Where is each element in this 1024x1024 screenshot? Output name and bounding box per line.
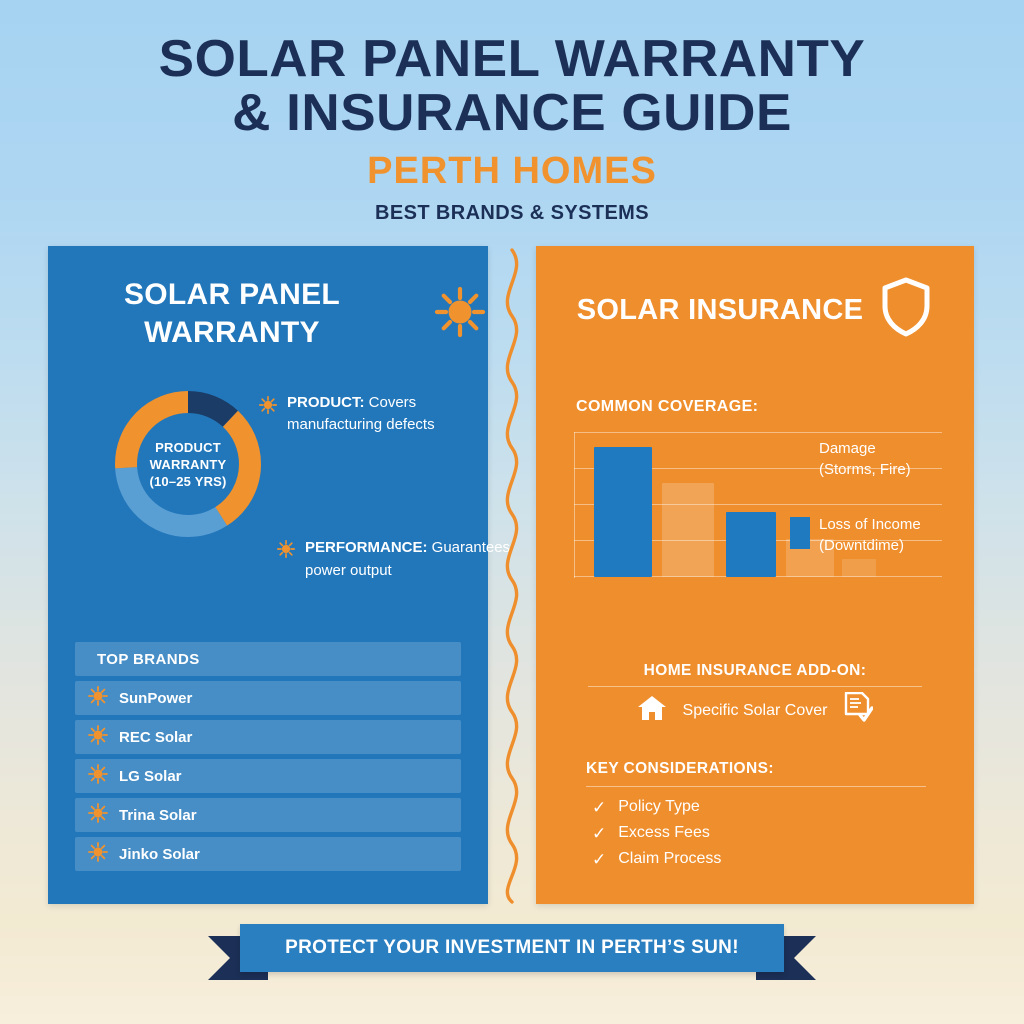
- brand-label: LG Solar: [119, 768, 182, 785]
- warranty-donut-chart: PRODUCT WARRANTY (10–25 YRS): [108, 384, 268, 544]
- addon-label: Specific Solar Cover: [683, 702, 828, 720]
- title-line-2: & INSURANCE GUIDE: [0, 86, 1024, 140]
- insurance-panel-title: SOLAR INSURANCE: [577, 291, 863, 329]
- bar-5: [842, 559, 876, 577]
- key-considerations-list: ✓ Policy Type ✓ Excess Fees ✓ Claim Proc…: [592, 794, 932, 872]
- page-title: SOLAR PANEL WARRANTY & INSURANCE GUIDE: [0, 32, 1024, 140]
- donut-label-line-2: WARRANTY: [150, 456, 227, 473]
- bar-2: [662, 483, 714, 577]
- coverage-bar-chart: Damage (Storms, Fire) Loss of Income (Do…: [574, 432, 942, 578]
- home-icon: [637, 694, 667, 727]
- legend-label-loss-of-income: Loss of Income (Downtdime): [819, 514, 921, 556]
- legend-damage-line-2: (Storms, Fire): [819, 459, 911, 480]
- bullet-row: PRODUCT: Covers manufacturing defects: [258, 392, 488, 436]
- chart-legend: Damage (Storms, Fire) Loss of Income (Do…: [790, 438, 950, 556]
- legend-swatch-damage: [790, 441, 810, 473]
- legend-item-damage: Damage (Storms, Fire): [790, 438, 950, 480]
- legend-loss-line-1: Loss of Income: [819, 514, 921, 535]
- brand-row-sunpower[interactable]: SunPower: [75, 681, 461, 715]
- sun-icon: [87, 685, 109, 711]
- check-icon: ✓: [592, 851, 606, 868]
- legend-damage-line-1: Damage: [819, 438, 911, 459]
- wavy-divider: [488, 246, 536, 904]
- brand-label: SunPower: [119, 690, 192, 707]
- title-accent: PERTH HOMES: [0, 148, 1024, 194]
- ribbon-text: PROTECT YOUR INVESTMENT IN PERTH’S SUN!: [285, 937, 739, 959]
- brand-row-jinko-solar[interactable]: Jinko Solar: [75, 837, 461, 871]
- key-item-label: Claim Process: [618, 850, 721, 868]
- top-brands-header-label: TOP BRANDS: [97, 651, 200, 668]
- brand-row-rec-solar[interactable]: REC Solar: [75, 720, 461, 754]
- legend-swatch-loss-of-income: [790, 517, 810, 549]
- key-item-label: Excess Fees: [618, 824, 710, 842]
- donut-label-line-1: PRODUCT: [155, 439, 221, 456]
- addon-rule: [588, 686, 922, 687]
- warranty-panel: SOLAR PANEL WARRANTY: [48, 246, 488, 904]
- title-line-1: SOLAR PANEL WARRANTY: [0, 32, 1024, 86]
- addon-row: Specific Solar Cover: [536, 692, 974, 729]
- warranty-bullet-product: PRODUCT: Covers manufacturing defects: [258, 392, 488, 436]
- sun-icon: [87, 802, 109, 828]
- brand-label: REC Solar: [119, 729, 192, 746]
- top-brands-list: TOP BRANDS SunPower: [75, 642, 461, 876]
- bullet-label: PRODUCT:: [287, 394, 365, 411]
- key-item-claim-process[interactable]: ✓ Claim Process: [592, 846, 932, 872]
- brand-row-trina-solar[interactable]: Trina Solar: [75, 798, 461, 832]
- warranty-panel-title: SOLAR PANEL WARRANTY: [48, 276, 416, 352]
- brand-label: Trina Solar: [119, 807, 197, 824]
- sun-icon: [87, 841, 109, 867]
- key-considerations-title: KEY CONSIDERATIONS:: [586, 760, 774, 778]
- insurance-panel: SOLAR INSURANCE COMMON COVERAGE:: [536, 246, 974, 904]
- key-considerations-rule: [586, 786, 926, 787]
- ribbon-body: PROTECT YOUR INVESTMENT IN PERTH’S SUN!: [240, 924, 784, 972]
- panels-container: SOLAR PANEL WARRANTY: [0, 246, 1024, 904]
- donut-center-label: PRODUCT WARRANTY (10–25 YRS): [108, 384, 268, 544]
- bar-1: [594, 447, 652, 577]
- sun-icon: [258, 395, 278, 420]
- legend-label-damage: Damage (Storms, Fire): [819, 438, 911, 480]
- brand-label: Jinko Solar: [119, 846, 200, 863]
- addon-title: HOME INSURANCE ADD-ON:: [536, 662, 974, 680]
- donut-label-line-3: (10–25 YRS): [149, 473, 226, 490]
- page-header: SOLAR PANEL WARRANTY & INSURANCE GUIDE P…: [0, 0, 1024, 226]
- chart-y-axis: [574, 432, 575, 578]
- key-item-label: Policy Type: [618, 798, 700, 816]
- sun-icon: [87, 724, 109, 750]
- legend-item-loss-of-income: Loss of Income (Downtdime): [790, 514, 950, 556]
- check-icon: ✓: [592, 799, 606, 816]
- common-coverage-title: COMMON COVERAGE:: [576, 398, 758, 416]
- sun-icon: [432, 284, 488, 345]
- sun-icon: [276, 539, 296, 564]
- brand-row-lg-solar[interactable]: LG Solar: [75, 759, 461, 793]
- insurance-panel-header: SOLAR INSURANCE: [536, 246, 974, 343]
- top-brands-header: TOP BRANDS: [75, 642, 461, 676]
- key-item-excess-fees[interactable]: ✓ Excess Fees: [592, 820, 932, 846]
- sun-icon: [87, 763, 109, 789]
- document-check-icon: [843, 692, 873, 729]
- bottom-ribbon: PROTECT YOUR INVESTMENT IN PERTH’S SUN!: [0, 922, 1024, 992]
- key-item-policy-type[interactable]: ✓ Policy Type: [592, 794, 932, 820]
- shield-icon: [879, 276, 933, 343]
- legend-loss-line-2: (Downtdime): [819, 535, 921, 556]
- check-icon: ✓: [592, 825, 606, 842]
- bar-3: [726, 512, 776, 577]
- bullet-text: PRODUCT: Covers manufacturing defects: [287, 392, 488, 436]
- bullet-label: PERFORMANCE:: [305, 539, 428, 556]
- warranty-panel-header: SOLAR PANEL WARRANTY: [48, 246, 488, 352]
- title-subtitle: BEST BRANDS & SYSTEMS: [0, 200, 1024, 226]
